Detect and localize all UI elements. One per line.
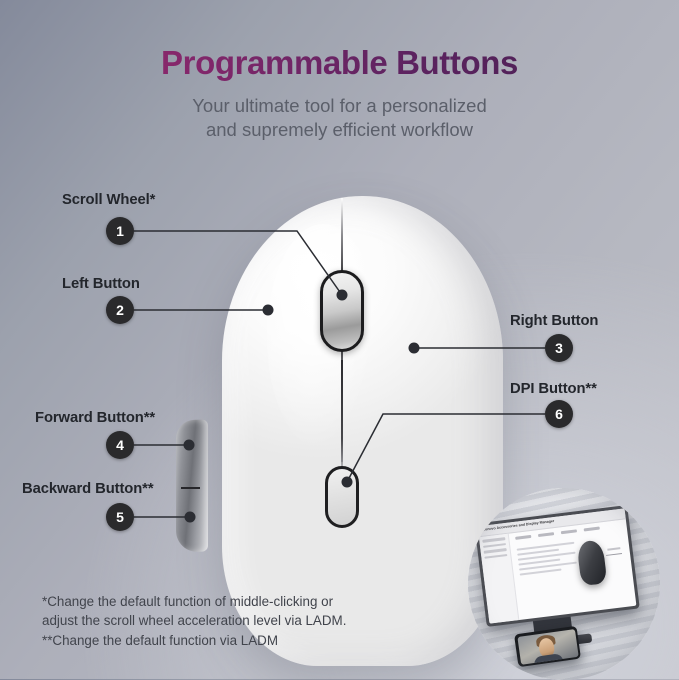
- inset-photo-ladm-software: Lenovo Accessories and Display Manager: [468, 488, 660, 680]
- badge-6[interactable]: 6: [545, 400, 573, 428]
- label-dpi-button: DPI Button**: [510, 381, 597, 397]
- sidebar-row: [484, 553, 507, 558]
- badge-4[interactable]: 4: [106, 431, 134, 459]
- mouse-side-buttons-divider: [181, 487, 200, 489]
- sidebar-row: [482, 537, 505, 542]
- monitor: Lenovo Accessories and Display Manager: [474, 505, 640, 627]
- software-mouse-preview: [576, 539, 607, 586]
- dpi-button-part: [325, 466, 359, 528]
- label-scroll-wheel: Scroll Wheel*: [62, 192, 155, 208]
- label-left-button: Left Button: [62, 276, 140, 292]
- tab-item: [584, 527, 600, 531]
- sidebar-row: [484, 548, 507, 553]
- mouse-side-buttons-strip: [176, 419, 208, 552]
- footnote-line-2: adjust the scroll wheel acceleration lev…: [42, 611, 346, 630]
- tab-item: [538, 532, 554, 536]
- mouse-bottom-seam: [341, 360, 343, 472]
- software-sidebar: [479, 534, 519, 624]
- footnote-line-3: **Change the default function via LADM: [42, 631, 346, 650]
- phone-screen: [517, 629, 578, 665]
- tab-item: [515, 535, 531, 539]
- badge-5[interactable]: 5: [106, 503, 134, 531]
- label-right-button: Right Button: [510, 313, 598, 329]
- badge-3[interactable]: 3: [545, 334, 573, 362]
- footnote-line-1: *Change the default function of middle-c…: [42, 592, 346, 611]
- sidebar-row: [483, 543, 506, 548]
- label-forward-button: Forward Button**: [35, 410, 155, 426]
- software-mouse-callout: [606, 553, 622, 556]
- footnotes: *Change the default function of middle-c…: [42, 592, 346, 650]
- badge-2[interactable]: 2: [106, 296, 134, 324]
- label-backward-button: Backward Button**: [22, 481, 154, 497]
- monitor-screen: Lenovo Accessories and Display Manager: [478, 508, 637, 623]
- scroll-wheel-part: [320, 270, 364, 352]
- tab-item: [561, 529, 577, 533]
- badge-1[interactable]: 1: [106, 217, 134, 245]
- software-settings-list: [517, 542, 578, 579]
